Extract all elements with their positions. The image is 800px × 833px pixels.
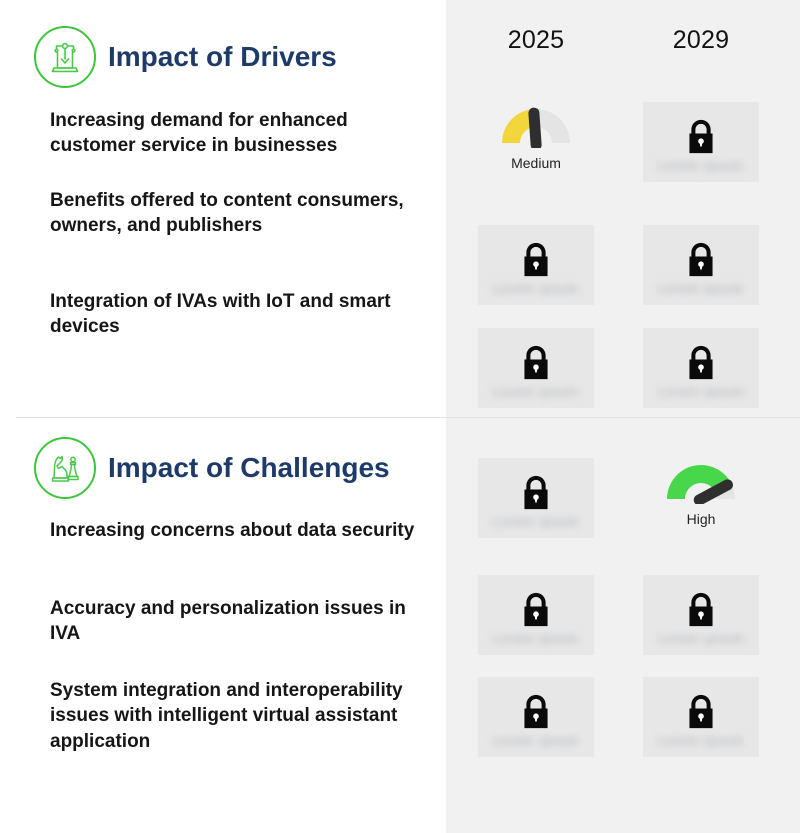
lock-icon xyxy=(478,589,594,631)
gauge-level-label: High xyxy=(687,511,716,527)
blurred-label: Lorem ipsum xyxy=(658,158,744,173)
locked-rating-cell-drivers-3-2025[interactable]: Lorem ipsum xyxy=(478,328,594,408)
section-divider xyxy=(16,417,800,418)
chess-pieces-challenges-icon xyxy=(34,437,96,499)
lock-icon xyxy=(478,472,594,514)
blurred-label: Lorem ipsum xyxy=(493,631,579,646)
section-title-challenges: Impact of Challenges xyxy=(108,452,390,484)
blurred-label: Lorem ipsum xyxy=(658,281,744,296)
column-header-2029: 2029 xyxy=(641,26,761,55)
blurred-label: Lorem ipsum xyxy=(658,733,744,748)
gauge-dial xyxy=(494,102,578,153)
lock-icon xyxy=(643,589,759,631)
blurred-label: Lorem ipsum xyxy=(493,384,579,399)
locked-rating-cell-challenges-3-2025[interactable]: Lorem ipsum xyxy=(478,677,594,757)
driver-item-3-text: Integration of IVAs with IoT and smart d… xyxy=(50,289,425,340)
rating-gauge-drivers-1-2025[interactable]: Medium xyxy=(478,102,594,182)
lock-icon xyxy=(643,116,759,158)
blurred-label: Lorem ipsum xyxy=(493,281,579,296)
locked-rating-cell-challenges-1-2025[interactable]: Lorem ipsum xyxy=(478,458,594,538)
rating-gauge-challenges-1-2029[interactable]: High xyxy=(643,458,759,538)
section-header-drivers: Impact of Drivers xyxy=(34,26,337,88)
lock-icon xyxy=(643,239,759,281)
section-header-challenges: Impact of Challenges xyxy=(34,437,390,499)
blurred-label: Lorem ipsum xyxy=(658,384,744,399)
challenge-item-1-text: Increasing concerns about data security xyxy=(50,518,425,543)
challenge-item-2-text: Accuracy and personalization issues in I… xyxy=(50,596,425,647)
locked-rating-cell-drivers-1-2029[interactable]: Lorem ipsum xyxy=(643,102,759,182)
laptop-download-drivers-icon xyxy=(34,26,96,88)
locked-rating-cell-challenges-2-2029[interactable]: Lorem ipsum xyxy=(643,575,759,655)
locked-rating-cell-challenges-2-2025[interactable]: Lorem ipsum xyxy=(478,575,594,655)
lock-icon xyxy=(478,691,594,733)
blurred-label: Lorem ipsum xyxy=(493,733,579,748)
locked-rating-cell-challenges-3-2029[interactable]: Lorem ipsum xyxy=(643,677,759,757)
driver-item-1-text: Increasing demand for enhanced customer … xyxy=(50,108,425,159)
lock-icon xyxy=(643,691,759,733)
gauge-level-label: Medium xyxy=(511,155,561,171)
blurred-label: Lorem ipsum xyxy=(493,514,579,529)
lock-icon xyxy=(478,342,594,384)
lock-icon xyxy=(643,342,759,384)
locked-rating-cell-drivers-3-2029[interactable]: Lorem ipsum xyxy=(643,328,759,408)
locked-rating-cell-drivers-2-2029[interactable]: Lorem ipsum xyxy=(643,225,759,305)
blurred-label: Lorem ipsum xyxy=(658,631,744,646)
section-title-drivers: Impact of Drivers xyxy=(108,41,337,73)
impact-matrix-page: 2025 2029 Impact of Drivers xyxy=(0,0,800,833)
challenge-item-3-text: System integration and interoperability … xyxy=(50,678,425,754)
lock-icon xyxy=(478,239,594,281)
column-header-2025: 2025 xyxy=(476,26,596,55)
gauge-dial xyxy=(659,458,743,509)
locked-rating-cell-drivers-2-2025[interactable]: Lorem ipsum xyxy=(478,225,594,305)
driver-item-2-text: Benefits offered to content consumers, o… xyxy=(50,188,425,239)
